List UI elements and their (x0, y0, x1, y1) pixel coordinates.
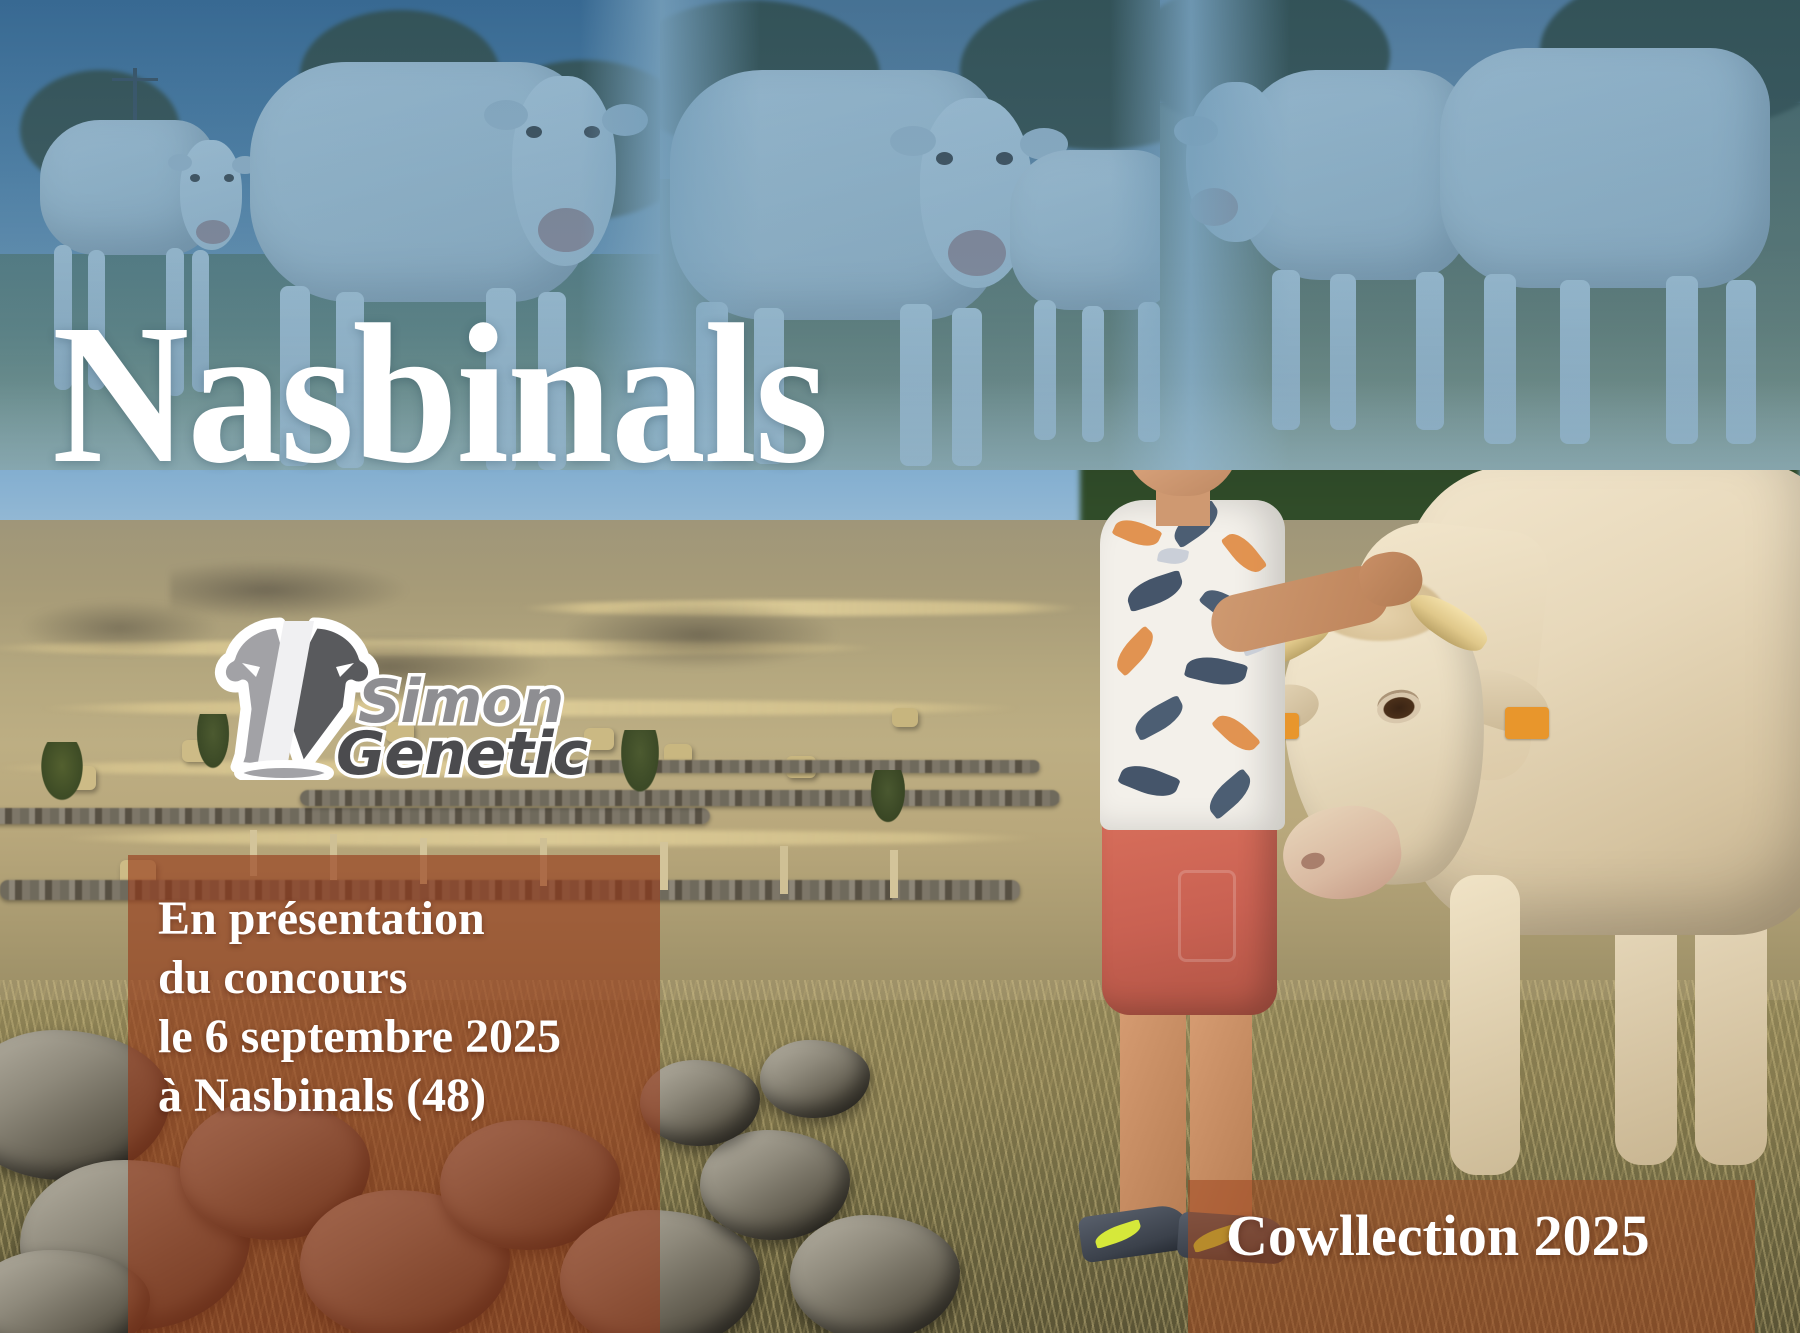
shirt-leaf-motif (1130, 695, 1189, 742)
rock-outcrop (20, 600, 220, 656)
dry-stone-wall (520, 760, 1040, 773)
logo-name-bottom: Genetic (336, 729, 587, 781)
shirt-leaf-motif (1211, 708, 1261, 757)
cream-cow (1255, 455, 1800, 1175)
fence-post (780, 846, 788, 894)
small-tree (870, 770, 906, 824)
simon-genetic-logo[interactable]: Simon Genetic (210, 605, 540, 795)
shirt-leaf-motif (1157, 546, 1189, 567)
badge-label: Cowllection 2025 (1188, 1180, 1755, 1269)
fence-post (890, 850, 898, 898)
hay-bale (892, 708, 918, 727)
info-line: à Nasbinals (48) (158, 1066, 660, 1125)
shirt-leaf-motif (1110, 625, 1161, 676)
small-tree (40, 742, 84, 802)
fence-post (660, 842, 668, 890)
event-info-panel: En présentation du concours le 6 septemb… (128, 855, 660, 1333)
info-line: En présentation (158, 889, 660, 948)
page-title: Nasbinals (52, 295, 827, 495)
shirt-leaf-motif (1184, 651, 1249, 691)
small-tree (620, 730, 660, 794)
info-line: du concours (158, 948, 660, 1007)
shirt-leaf-motif (1117, 758, 1181, 804)
dry-stone-wall (0, 808, 710, 824)
boulder (790, 1215, 960, 1333)
hay-field-stripe (60, 830, 1040, 846)
shirt-leaf-motif (1221, 527, 1268, 578)
cow-front-leg (1450, 875, 1520, 1175)
cow-ear-tag (1505, 707, 1549, 739)
rock-outcrop (560, 600, 840, 670)
info-line: le 6 septembre 2025 (158, 1007, 660, 1066)
cowllection-badge: Cowllection 2025 (1188, 1180, 1755, 1333)
logo-wordmark: Simon Genetic (358, 677, 587, 780)
shirt-leaf-motif (1123, 570, 1186, 613)
boy-tshirt (1100, 500, 1285, 830)
poster-canvas: Nasbinals Simon Genetic En présentation … (0, 0, 1800, 1333)
hay-bale (584, 728, 614, 750)
shirt-leaf-motif (1112, 514, 1163, 553)
shirt-leaf-motif (1202, 768, 1257, 820)
boy-shorts-pocket (1178, 870, 1236, 962)
